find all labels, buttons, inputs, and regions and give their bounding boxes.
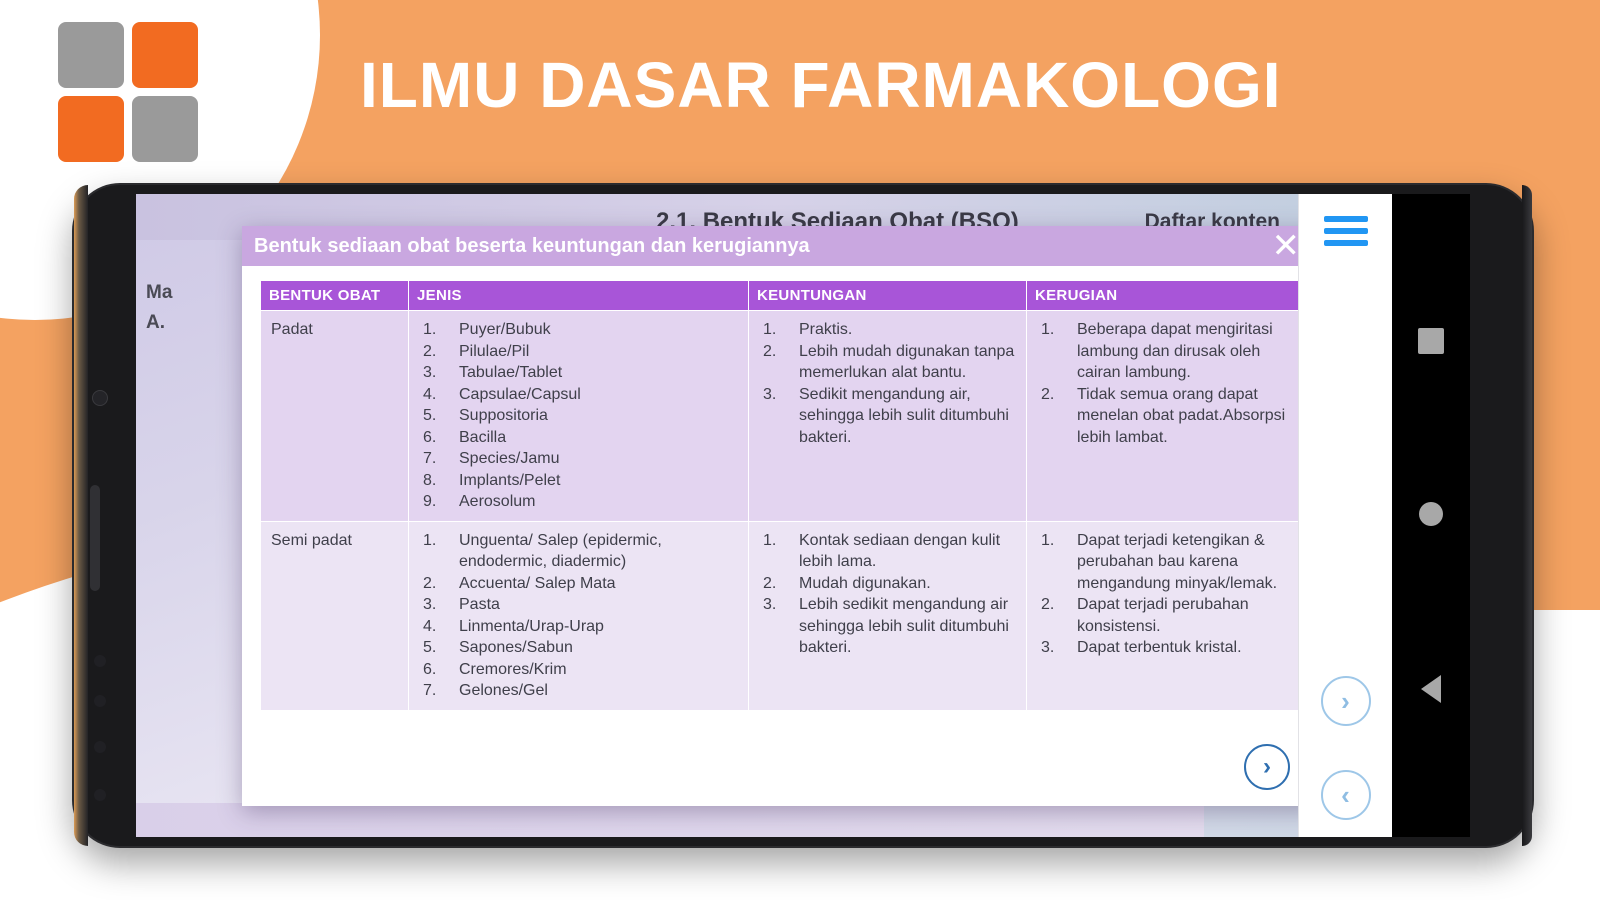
- table-header-row: BENTUK OBAT JENIS KEUNTUNGAN KERUGIAN: [261, 281, 1301, 311]
- list-item: Capsulae/Capsul: [419, 384, 738, 406]
- list-item: Unguenta/ Salep (epidermic, endodermic, …: [419, 530, 738, 573]
- phone-left-edge: [74, 185, 88, 846]
- content-side-text-line1: Ma: [146, 278, 172, 308]
- content-side-text-line2: A.: [146, 308, 172, 338]
- app-logo: [58, 22, 208, 162]
- list-item: Sapones/Sabun: [419, 637, 738, 659]
- hamburger-bar-1: [1324, 216, 1368, 222]
- list-jenis: Puyer/BubukPilulae/PilTabulae/TabletCaps…: [419, 319, 738, 513]
- table-header-kerugian: KERUGIAN: [1027, 281, 1301, 311]
- list-item: Bacilla: [419, 427, 738, 449]
- table-header-keuntungan: KEUNTUNGAN: [749, 281, 1027, 311]
- modal-body: BENTUK OBAT JENIS KEUNTUNGAN KERUGIAN Pa…: [242, 266, 1320, 806]
- content-side-text: Ma A.: [146, 278, 172, 338]
- list-item: Dapat terjadi perubahan konsistensi.: [1037, 594, 1290, 637]
- list-item: Species/Jamu: [419, 448, 738, 470]
- list-item: Kontak sediaan dengan kulit lebih lama.: [759, 530, 1016, 573]
- list-item: Implants/Pelet: [419, 470, 738, 492]
- list-item: Gelones/Gel: [419, 680, 738, 702]
- cell-keuntungan: Kontak sediaan dengan kulit lebih lama.M…: [749, 521, 1027, 710]
- list-jenis: Unguenta/ Salep (epidermic, endodermic, …: [419, 530, 738, 702]
- list-item: Tabulae/Tablet: [419, 362, 738, 384]
- back-triangle-icon[interactable]: [1421, 675, 1441, 703]
- recents-square-icon[interactable]: [1418, 328, 1444, 354]
- list-item: Praktis.: [759, 319, 1016, 341]
- list-item: Pasta: [419, 594, 738, 616]
- content-bottom-strip: [136, 803, 1204, 837]
- app-screen: 2.1. Bentuk Sediaan Obat (BSO) Daftar ko…: [136, 194, 1392, 837]
- logo-square-bottomleft: [58, 96, 124, 162]
- list-item: Cremores/Krim: [419, 659, 738, 681]
- list-item: Sedikit mengandung air, sehingga lebih s…: [759, 384, 1016, 449]
- bso-modal-dialog: Bentuk sediaan obat beserta keuntungan d…: [242, 226, 1320, 806]
- list-item: Mudah digunakan.: [759, 573, 1016, 595]
- table-row: Semi padat Unguenta/ Salep (epidermic, e…: [261, 521, 1301, 710]
- modal-next-button[interactable]: ›: [1244, 744, 1290, 790]
- list-item: Aerosolum: [419, 491, 738, 513]
- phone-sensor-dot-1: [94, 655, 106, 667]
- list-item: Beberapa dapat mengiritasi lambung dan d…: [1037, 319, 1290, 384]
- list-item: Tidak semua orang dapat menelan obat pad…: [1037, 384, 1290, 449]
- phone-screen: 2.1. Bentuk Sediaan Obat (BSO) Daftar ko…: [136, 194, 1470, 837]
- list-item: Lebih mudah digunakan tanpa memerlukan a…: [759, 341, 1016, 384]
- phone-right-edge: [1522, 185, 1532, 846]
- list-kerugian: Beberapa dapat mengiritasi lambung dan d…: [1037, 319, 1290, 448]
- list-item: Puyer/Bubuk: [419, 319, 738, 341]
- cell-kerugian: Beberapa dapat mengiritasi lambung dan d…: [1027, 311, 1301, 522]
- bso-table: BENTUK OBAT JENIS KEUNTUNGAN KERUGIAN Pa…: [260, 280, 1301, 711]
- list-item: Lebih sedikit mengandung air sehingga le…: [759, 594, 1016, 659]
- list-item: Dapat terbentuk kristal.: [1037, 637, 1290, 659]
- phone-device: 2.1. Bentuk Sediaan Obat (BSO) Daftar ko…: [72, 183, 1534, 848]
- cell-keuntungan: Praktis.Lebih mudah digunakan tanpa meme…: [749, 311, 1027, 522]
- phone-sensor-dot-4: [94, 789, 106, 801]
- logo-square-topright: [132, 22, 198, 88]
- cell-jenis: Unguenta/ Salep (epidermic, endodermic, …: [409, 521, 749, 710]
- next-page-button[interactable]: ›: [1321, 676, 1371, 726]
- logo-square-topleft: [58, 22, 124, 88]
- list-keuntungan: Kontak sediaan dengan kulit lebih lama.M…: [759, 530, 1016, 659]
- phone-camera-icon: [92, 390, 108, 406]
- android-navigation-bar: [1392, 194, 1470, 837]
- cell-bentuk-obat: Semi padat: [261, 521, 409, 710]
- table-header-bentuk-obat: BENTUK OBAT: [261, 281, 409, 311]
- table-body: Padat Puyer/BubukPilulae/PilTabulae/Tabl…: [261, 311, 1301, 711]
- table-header-jenis: JENIS: [409, 281, 749, 311]
- list-item: Linmenta/Urap-Urap: [419, 616, 738, 638]
- banner-title: ILMU DASAR FARMAKOLOGI: [360, 48, 1460, 122]
- hamburger-bar-2: [1324, 228, 1368, 234]
- previous-page-button[interactable]: ‹: [1321, 770, 1371, 820]
- list-item: Suppositoria: [419, 405, 738, 427]
- modal-header: Bentuk sediaan obat beserta keuntungan d…: [242, 226, 1320, 266]
- hamburger-bar-3: [1324, 240, 1368, 246]
- list-keuntungan: Praktis.Lebih mudah digunakan tanpa meme…: [759, 319, 1016, 448]
- phone-volume-button[interactable]: [90, 485, 100, 591]
- phone-sensor-dot-3: [94, 741, 106, 753]
- table-row: Padat Puyer/BubukPilulae/PilTabulae/Tabl…: [261, 311, 1301, 522]
- cell-jenis: Puyer/BubukPilulae/PilTabulae/TabletCaps…: [409, 311, 749, 522]
- phone-sensor-dot-2: [94, 695, 106, 707]
- cell-kerugian: Dapat terjadi ketengikan & perubahan bau…: [1027, 521, 1301, 710]
- cell-bentuk-obat: Padat: [261, 311, 409, 522]
- list-item: Accuenta/ Salep Mata: [419, 573, 738, 595]
- list-item: Dapat terjadi ketengikan & perubahan bau…: [1037, 530, 1290, 595]
- home-circle-icon[interactable]: [1419, 502, 1443, 526]
- modal-title: Bentuk sediaan obat beserta keuntungan d…: [254, 235, 810, 258]
- logo-square-bottomright: [132, 96, 198, 162]
- list-kerugian: Dapat terjadi ketengikan & perubahan bau…: [1037, 530, 1290, 659]
- list-item: Pilulae/Pil: [419, 341, 738, 363]
- tool-rail: › ‹: [1298, 194, 1392, 837]
- hamburger-menu-icon[interactable]: [1324, 216, 1368, 246]
